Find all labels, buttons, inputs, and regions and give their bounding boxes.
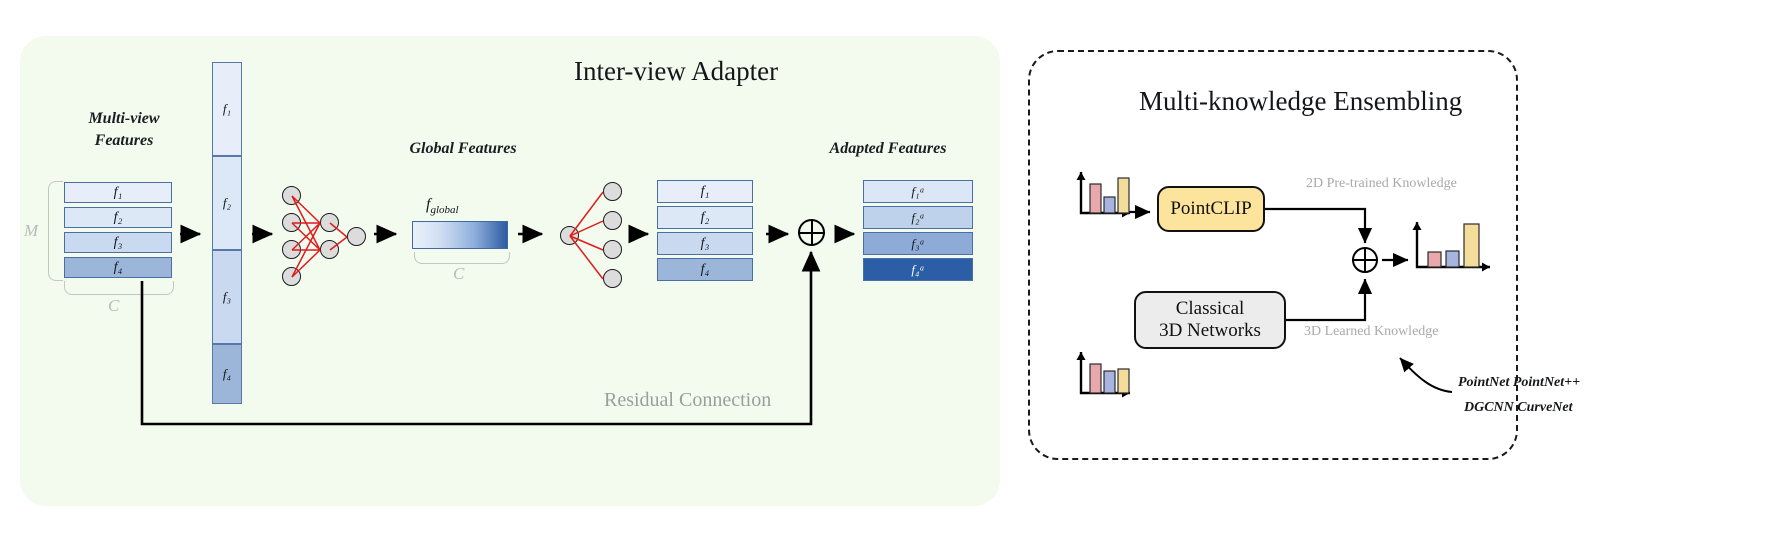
brace-m <box>48 181 63 281</box>
adapted-features-label: Adapted Features <box>800 140 976 158</box>
adapted-feature-box: f₁ᵃ <box>863 180 973 203</box>
concat-segment: f₄ <box>212 344 242 404</box>
mlp-node <box>603 269 622 288</box>
knowledge-2d-label: 2D Pre-trained Knowledge <box>1306 176 1457 192</box>
adapted-feature-box: f₃ᵃ <box>863 232 973 255</box>
concat-segment: f₂ <box>212 156 242 250</box>
mlp-node <box>282 186 301 205</box>
mlp-encoder <box>282 186 366 286</box>
network-names-line2: DGCNN CurveNet <box>1464 400 1573 416</box>
mlp-node <box>320 213 339 232</box>
mlp-decoder <box>560 182 622 290</box>
mlp-node <box>282 213 301 232</box>
adapted-feature-box: f₄ᵃ <box>863 258 973 281</box>
adapted-feature-box: f₂ᵃ <box>863 206 973 229</box>
global-vector-label: fglobal <box>426 196 459 216</box>
brace-c-global <box>414 252 510 264</box>
output-feature-box: f₃ <box>657 232 753 255</box>
mlp-node <box>347 227 366 246</box>
classical-line2: 3D Networks <box>1159 320 1261 341</box>
knowledge-3d-label: 3D Learned Knowledge <box>1304 324 1439 340</box>
mlp-node <box>282 267 301 286</box>
residual-sum-icon <box>798 219 825 246</box>
concat-segment: f₁ <box>212 62 242 156</box>
multi-view-feature-box: f₁ <box>64 182 172 203</box>
output-feature-box: f₁ <box>657 180 753 203</box>
dimension-label-c-global: C <box>453 264 464 284</box>
mlp-node <box>603 211 622 230</box>
multi-view-feature-box: f₄ <box>64 257 172 278</box>
page-title-inter-view-adapter: Inter-view Adapter <box>574 56 778 87</box>
mlp-node <box>282 240 301 259</box>
mlp-node <box>560 226 579 245</box>
concatenated-feature-bar: f₁ f₂ f₃ f₄ <box>212 62 242 404</box>
multi-view-label-line2: Features <box>95 132 154 149</box>
classical-3d-networks-box: Classical 3D Networks <box>1134 291 1286 349</box>
global-features-label: Global Features <box>380 140 546 158</box>
multi-view-label-line1: Multi-view <box>88 110 159 127</box>
network-names-line1: PointNet PointNet++ <box>1458 375 1580 391</box>
dimension-label-m: M <box>24 221 38 241</box>
ensemble-sum-icon <box>1352 247 1378 273</box>
brace-c <box>64 281 174 295</box>
multi-view-feature-box: f₃ <box>64 232 172 253</box>
mlp-node <box>603 240 622 259</box>
global-feature-vector <box>412 221 508 249</box>
multi-view-features-label: Multi-view Features <box>62 108 186 152</box>
output-feature-box: f₄ <box>657 258 753 281</box>
output-feature-box: f₂ <box>657 206 753 229</box>
page-title-multi-knowledge-ensembling: Multi-knowledge Ensembling <box>1139 86 1462 117</box>
classical-line1: Classical <box>1176 298 1245 319</box>
mlp-node <box>320 240 339 259</box>
dimension-label-c: C <box>108 296 119 316</box>
residual-connection-label: Residual Connection <box>604 389 771 412</box>
concat-segment: f₃ <box>212 250 242 344</box>
pointclip-module-box: PointCLIP <box>1157 186 1265 232</box>
mlp-node <box>603 182 622 201</box>
diagram-canvas: Inter-view Adapter Multi-view Features G… <box>0 0 1766 550</box>
multi-view-feature-box: f₂ <box>64 207 172 228</box>
